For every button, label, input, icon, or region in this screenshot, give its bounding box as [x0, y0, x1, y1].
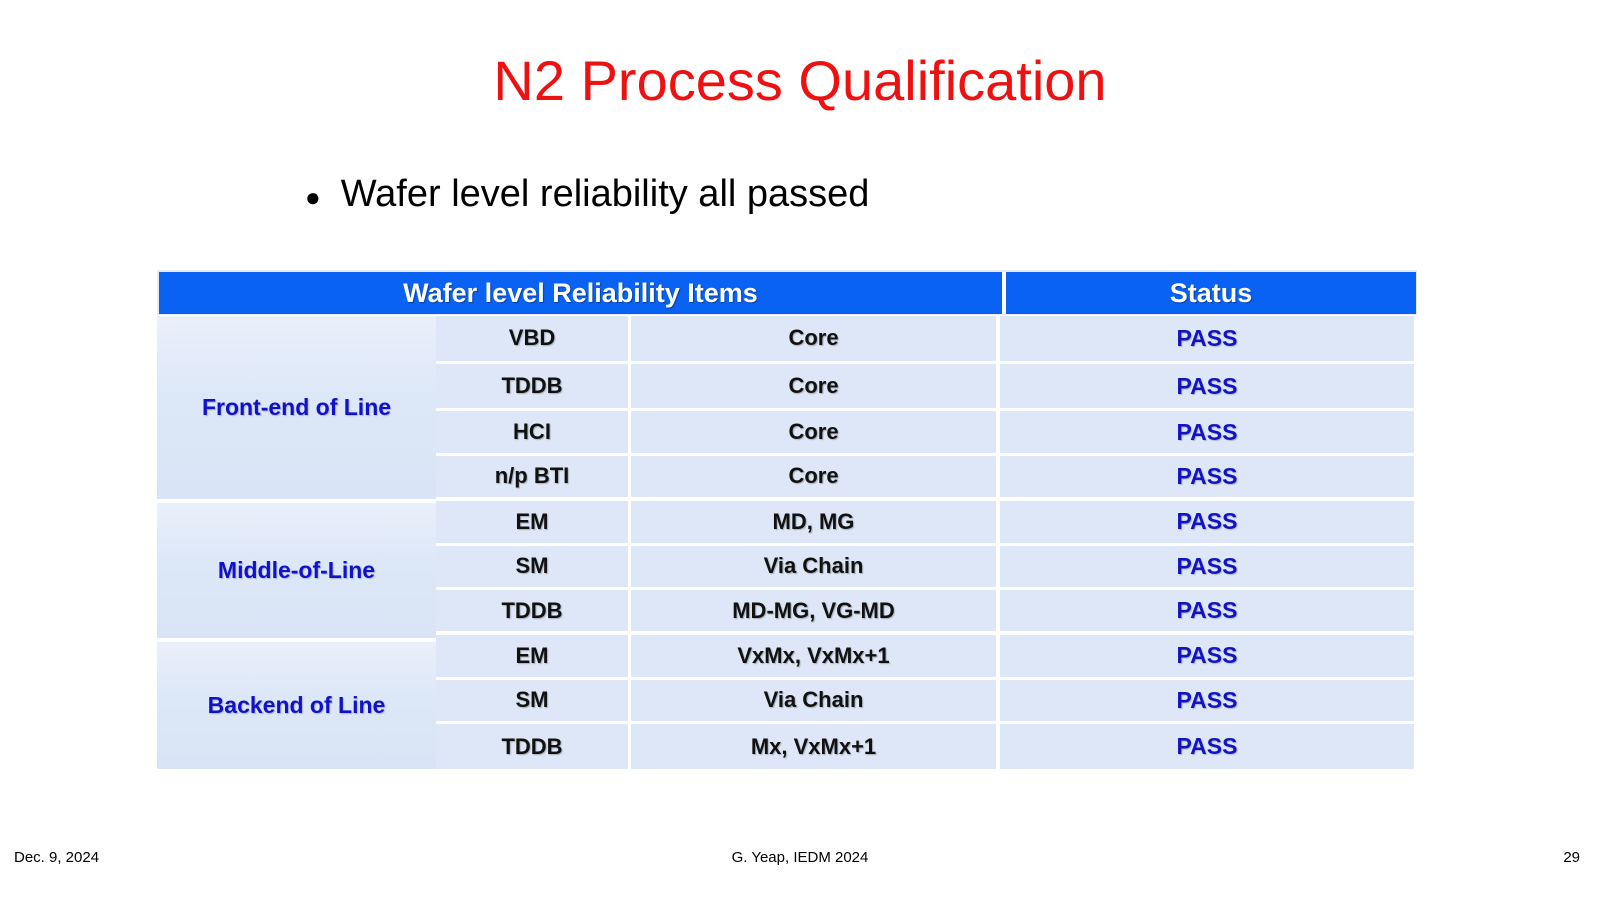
cell-status: PASS [1000, 501, 1414, 543]
table-body: Front-end of Line Middle-of-Line Backend… [157, 316, 1417, 769]
cell-detail: Core [631, 411, 1000, 453]
footer-page-number: 29 [1563, 849, 1580, 866]
cell-detail: Core [631, 364, 1000, 409]
footer-attribution: G. Yeap, IEDM 2024 [0, 849, 1600, 866]
column-header-status: Status [1006, 272, 1416, 314]
group-label-column: Front-end of Line Middle-of-Line Backend… [157, 316, 436, 769]
page-title: N2 Process Qualification [0, 47, 1600, 115]
table-row: VBD Core PASS [436, 316, 1417, 364]
cell-status: PASS [1000, 590, 1414, 631]
cell-item: n/p BTI [436, 456, 631, 497]
table-header-row: Wafer level Reliability Items Status [157, 270, 1417, 315]
data-rows-column: VBD Core PASS TDDB Core PASS HCI Core PA… [436, 316, 1417, 769]
cell-detail: Via Chain [631, 546, 1000, 588]
bullet-text: Wafer level reliability all passed [341, 168, 870, 220]
cell-item: VBD [436, 316, 631, 361]
group-label-front-end-of-line: Front-end of Line [157, 316, 436, 503]
table-row: TDDB MD-MG, VG-MD PASS [436, 590, 1417, 635]
cell-item: TDDB [436, 724, 631, 769]
group-label-backend-of-line: Backend of Line [157, 642, 436, 769]
cell-detail: MD-MG, VG-MD [631, 590, 1000, 631]
table-row: EM MD, MG PASS [436, 501, 1417, 546]
cell-item: TDDB [436, 364, 631, 409]
cell-status: PASS [1000, 316, 1414, 361]
cell-status: PASS [1000, 724, 1414, 769]
cell-status: PASS [1000, 546, 1414, 588]
bullet-list-item: ● Wafer level reliability all passed [305, 168, 869, 223]
table-row: TDDB Mx, VxMx+1 PASS [436, 724, 1417, 769]
cell-detail: VxMx, VxMx+1 [631, 635, 1000, 677]
cell-status: PASS [1000, 411, 1414, 453]
table-row: TDDB Core PASS [436, 364, 1417, 412]
cell-item: SM [436, 546, 631, 588]
cell-item: EM [436, 635, 631, 677]
cell-detail: Core [631, 316, 1000, 361]
column-header-reliability-items: Wafer level Reliability Items [159, 272, 1002, 314]
bullet-dot-icon: ● [305, 171, 321, 223]
table-row: n/p BTI Core PASS [436, 456, 1417, 501]
table-row: SM Via Chain PASS [436, 546, 1417, 591]
table-row: EM VxMx, VxMx+1 PASS [436, 635, 1417, 680]
cell-detail: Core [631, 456, 1000, 497]
cell-status: PASS [1000, 635, 1414, 677]
cell-item: EM [436, 501, 631, 543]
cell-item: SM [436, 680, 631, 722]
cell-detail: Mx, VxMx+1 [631, 724, 1000, 769]
cell-status: PASS [1000, 364, 1414, 409]
slide-footer: Dec. 9, 2024 G. Yeap, IEDM 2024 29 [0, 849, 1600, 879]
table-row: SM Via Chain PASS [436, 680, 1417, 725]
cell-status: PASS [1000, 456, 1414, 497]
table-row: HCI Core PASS [436, 411, 1417, 456]
group-label-middle-of-line: Middle-of-Line [157, 503, 436, 642]
cell-item: HCI [436, 411, 631, 453]
slide-canvas: N2 Process Qualification ● Wafer level r… [0, 0, 1600, 900]
cell-item: TDDB [436, 590, 631, 631]
cell-detail: MD, MG [631, 501, 1000, 543]
cell-status: PASS [1000, 680, 1414, 722]
cell-detail: Via Chain [631, 680, 1000, 722]
